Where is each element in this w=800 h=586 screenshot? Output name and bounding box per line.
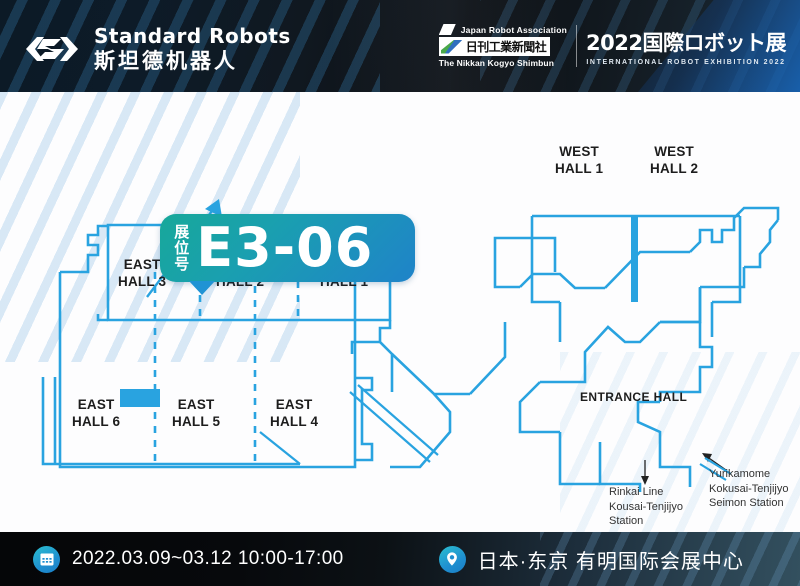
map-label-west-hall-2: WESTHALL 2: [650, 144, 698, 178]
jra-row: Japan Robot Association: [439, 24, 567, 35]
map-label-east-hall-5: EASTHALL 5: [172, 397, 220, 431]
page-header: Standard Robots 斯坦德机器人 Japan Robot Assoc…: [0, 0, 800, 92]
map-label-east-hall-6: EASTHALL 6: [72, 397, 120, 431]
jra-label: Japan Robot Association: [461, 25, 567, 35]
brand-name-en: Standard Robots: [94, 26, 291, 46]
footer-location-text: 日本·东京 有明国际会展中心: [478, 545, 744, 574]
partner-logos: Japan Robot Association 日刊工業新聞社 The Nikk…: [439, 24, 786, 68]
jra-triangle-mark-icon: [439, 24, 456, 35]
brand-name-cn: 斯坦德机器人: [94, 51, 291, 72]
nikkan-jra-lockup: Japan Robot Association 日刊工業新聞社 The Nikk…: [439, 24, 567, 68]
station-label-yurikamome: YurikamomeKokusai-TenjijyoSeimon Station: [709, 467, 788, 511]
page-footer: 2022.03.09~03.12 10:00-17:00 日本·东京 有明国际会…: [0, 532, 800, 586]
exhibition-logo: 2022国際ロボット展 INTERNATIONAL ROBOT EXHIBITI…: [586, 27, 786, 66]
booth-number-badge: 展位号 E3-06: [160, 214, 415, 282]
booth-location-marker[interactable]: [120, 389, 160, 407]
station-label-rinkai-line: Rinkai LineKousai-TenjijyoStation: [609, 485, 683, 529]
map-label-east-hall-4: EASTHALL 4: [270, 397, 318, 431]
nikkan-swoosh-mark-icon: [441, 40, 463, 54]
booth-badge-code: E3-06: [196, 221, 373, 275]
footer-date-block: 2022.03.09~03.12 10:00-17:00: [33, 546, 344, 573]
map-label-east-hall-3: EASTHALL 3: [118, 257, 166, 291]
footer-location-block: 日本·东京 有明国际会展中心: [439, 545, 744, 574]
booth-badge-vertical-label: 展位号: [173, 223, 188, 273]
partner-divider: [576, 25, 577, 67]
exhibition-subtitle: INTERNATIONAL ROBOT EXHIBITION 2022: [586, 59, 785, 66]
footer-date-text: 2022.03.09~03.12 10:00-17:00: [72, 548, 344, 570]
nikkan-name-jp: 日刊工業新聞社: [466, 38, 547, 55]
map-label-west-hall-1: WESTHALL 1: [555, 144, 603, 178]
booth-badge-pointer-tail: [189, 281, 215, 295]
nikkan-logo-box: 日刊工業新聞社: [439, 37, 551, 56]
west-hall-divider: [631, 216, 638, 302]
brand-lockup: Standard Robots 斯坦德机器人: [24, 26, 291, 72]
standard-robots-hex-arrow-logo-icon: [24, 29, 80, 69]
venue-map-area: EASTHALL 3 EASTHALL 2 EASTHALL 1 EASTHAL…: [0, 92, 800, 532]
map-label-entrance-hall: ENTRANCE HALL: [580, 390, 687, 405]
exhibition-booth-poster: Standard Robots 斯坦德机器人 Japan Robot Assoc…: [0, 0, 800, 586]
nikkan-name-en: The Nikkan Kogyo Shimbun: [439, 58, 554, 68]
exhibition-title: 2022国際ロボット展: [586, 27, 786, 57]
brand-text: Standard Robots 斯坦德机器人: [94, 26, 291, 72]
map-pin-icon: [439, 546, 466, 573]
calendar-icon: [33, 546, 60, 573]
